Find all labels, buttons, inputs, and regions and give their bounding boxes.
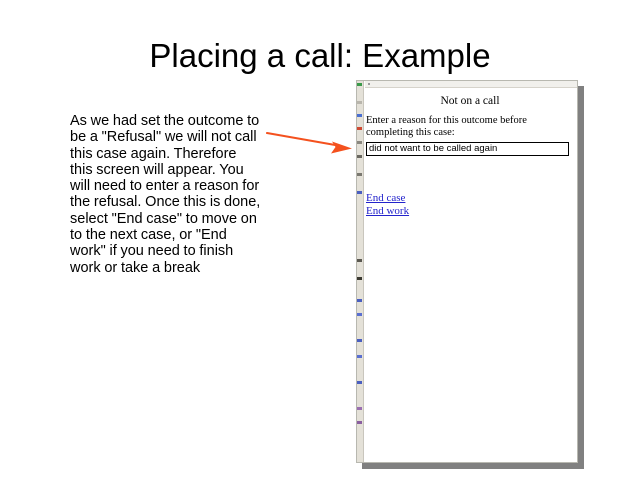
red-arrow-icon: [258, 120, 362, 160]
arrow-head: [331, 142, 352, 154]
sidebar-fragment-blue-6: [357, 355, 362, 358]
end-case-link[interactable]: End case: [366, 192, 574, 206]
sidebar-fragment-blue-5: [357, 339, 362, 342]
sidebar-fragment-gray-5: [357, 259, 362, 262]
embedded-screenshot-panel: Not on a call Enter a reason for this ou…: [356, 80, 578, 463]
presentation-slide: Placing a call: Example As we had set th…: [0, 0, 640, 480]
panel-heading: Not on a call: [366, 95, 574, 108]
red-arrow-svg: [258, 120, 362, 160]
sidebar-fragment-dark: [357, 277, 362, 280]
sidebar-fragment-red: [357, 127, 362, 130]
sidebar-fragment-blue-3: [357, 299, 362, 302]
sidebar-fragment-blue-2: [357, 191, 362, 194]
sidebar-fragment-blue-7: [357, 381, 362, 384]
panel-links: End case End work: [366, 192, 574, 219]
sidebar-fragment-purple: [357, 407, 362, 410]
slide-body-text: As we had set the outcome to be a "Refus…: [70, 113, 262, 276]
end-work-link[interactable]: End work: [366, 205, 574, 219]
captured-window-top-strip: [365, 81, 577, 88]
sidebar-fragment-blue: [357, 114, 362, 117]
sidebar-fragment-gray-4: [357, 173, 362, 176]
page-title: Placing a call: Example: [0, 38, 640, 74]
clipped-sidebar-strip: [357, 81, 364, 462]
arrow-shaft: [267, 133, 338, 146]
panel-prompt-text: Enter a reason for this outcome before c…: [366, 115, 571, 139]
sidebar-fragment-green: [357, 83, 362, 86]
sidebar-fragment-purple-2: [357, 421, 362, 424]
sidebar-fragment-gray-3: [357, 155, 362, 158]
sidebar-fragment-blue-4: [357, 313, 362, 316]
sidebar-fragment-gray: [357, 101, 362, 104]
top-strip-tick: [368, 83, 370, 85]
sidebar-fragment-gray-2: [357, 141, 362, 144]
captured-page-content: Not on a call Enter a reason for this ou…: [366, 90, 574, 460]
reason-input[interactable]: [366, 142, 569, 156]
